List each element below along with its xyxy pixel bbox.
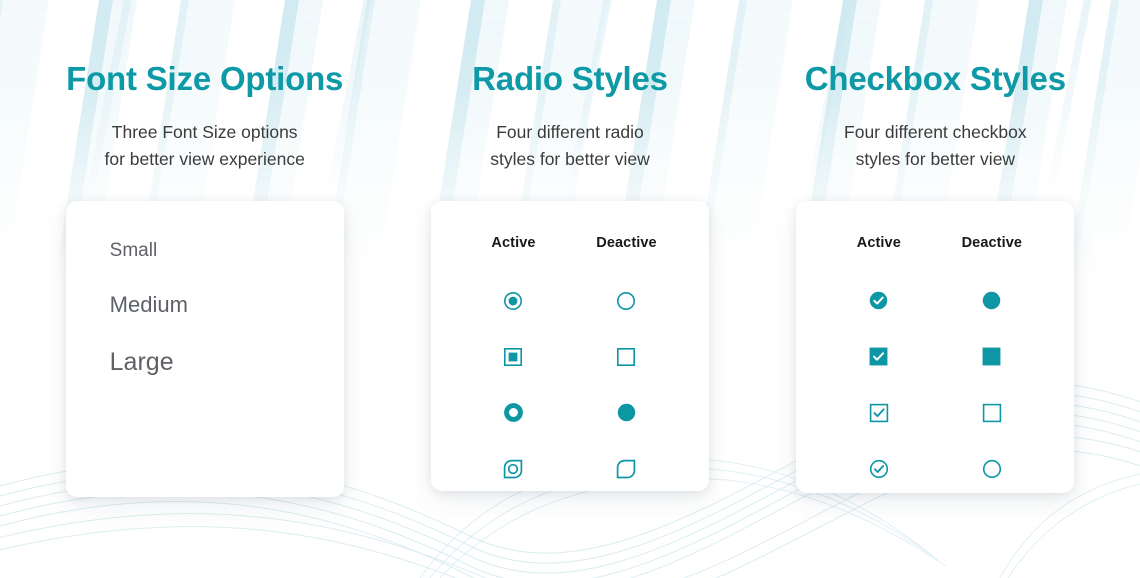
- table-row: [431, 385, 709, 441]
- radio-leaf-empty-icon[interactable]: [616, 459, 636, 479]
- check-square-outline-icon[interactable]: [869, 403, 889, 423]
- radio-styles-subtitle-line-2: styles for better view: [490, 149, 650, 169]
- table-row: [431, 329, 709, 385]
- table-row: [796, 273, 1074, 329]
- font-size-option-medium[interactable]: Medium: [110, 294, 344, 316]
- radio-styles-title: Radio Styles: [472, 62, 668, 97]
- square-outline-icon[interactable]: [982, 403, 1002, 423]
- font-size-card: Small Medium Large: [66, 201, 344, 497]
- column-checkbox-styles: Checkbox Styles Four different checkbox …: [753, 0, 1118, 578]
- checkbox-header-deactive: Deactive: [935, 235, 1048, 251]
- radio-deactive-cell-1[interactable]: [570, 286, 683, 316]
- checkbox-styles-subtitle-line-1: Four different checkbox: [844, 122, 1027, 142]
- checkbox-active-cell-3[interactable]: [822, 398, 935, 428]
- check-circle-outline-icon[interactable]: [869, 459, 889, 479]
- column-font-size: Font Size Options Three Font Size option…: [22, 0, 387, 578]
- radio-active-cell-3[interactable]: [457, 398, 570, 428]
- radio-deactive-cell-4[interactable]: [570, 454, 683, 484]
- font-size-subtitle: Three Font Size options for better view …: [104, 119, 304, 173]
- radio-styles-subtitle: Four different radio styles for better v…: [490, 119, 650, 173]
- checkbox-deactive-cell-4[interactable]: [935, 454, 1048, 484]
- font-size-subtitle-line-1: Three Font Size options: [112, 122, 298, 142]
- checkbox-styles-subtitle: Four different checkbox styles for bette…: [844, 119, 1027, 173]
- font-size-title: Font Size Options: [66, 62, 343, 97]
- font-size-option-large[interactable]: Large: [110, 350, 344, 375]
- radio-square-dot-icon[interactable]: [503, 347, 523, 367]
- radio-deactive-cell-3[interactable]: [570, 398, 683, 428]
- table-row: [796, 329, 1074, 385]
- radio-circle-dot-icon[interactable]: [503, 291, 523, 311]
- checkbox-deactive-cell-3[interactable]: [935, 398, 1048, 428]
- table-row: [431, 273, 709, 329]
- table-row: [796, 385, 1074, 441]
- checkbox-active-cell-1[interactable]: [822, 286, 935, 316]
- check-square-filled-icon[interactable]: [869, 347, 888, 366]
- font-size-subtitle-line-2: for better view experience: [104, 149, 304, 169]
- table-row: [796, 441, 1074, 497]
- radio-donut-icon[interactable]: [504, 403, 523, 422]
- radio-deactive-cell-2[interactable]: [570, 342, 683, 372]
- circle-filled-icon[interactable]: [982, 291, 1001, 310]
- checkbox-styles-subtitle-line-2: styles for better view: [856, 149, 1016, 169]
- radio-header-deactive: Deactive: [570, 235, 683, 251]
- radio-circle-filled-icon[interactable]: [617, 403, 636, 422]
- square-filled-icon[interactable]: [982, 347, 1001, 366]
- radio-active-cell-1[interactable]: [457, 286, 570, 316]
- circle-outline-icon[interactable]: [982, 459, 1002, 479]
- radio-styles-subtitle-line-1: Four different radio: [496, 122, 644, 142]
- radio-active-cell-2[interactable]: [457, 342, 570, 372]
- radio-table-header: Active Deactive: [431, 235, 709, 251]
- page-root: Font Size Options Three Font Size option…: [0, 0, 1140, 578]
- checkbox-deactive-cell-1[interactable]: [935, 286, 1048, 316]
- radio-header-active: Active: [457, 235, 570, 251]
- font-size-option-small[interactable]: Small: [110, 241, 344, 260]
- checkbox-table-header: Active Deactive: [796, 235, 1074, 251]
- radio-circle-empty-icon[interactable]: [616, 291, 636, 311]
- checkbox-active-cell-4[interactable]: [822, 454, 935, 484]
- checkbox-header-active: Active: [822, 235, 935, 251]
- radio-square-empty-icon[interactable]: [616, 347, 636, 367]
- check-circle-filled-icon[interactable]: [869, 291, 888, 310]
- column-radio-styles: Radio Styles Four different radio styles…: [387, 0, 752, 578]
- table-row: [431, 441, 709, 497]
- checkbox-styles-title: Checkbox Styles: [805, 62, 1066, 97]
- checkbox-styles-card: Active Deactive: [796, 201, 1074, 493]
- radio-active-cell-4[interactable]: [457, 454, 570, 484]
- checkbox-deactive-cell-2[interactable]: [935, 342, 1048, 372]
- radio-leaf-dot-icon[interactable]: [503, 459, 523, 479]
- radio-styles-card: Active Deactive: [431, 201, 709, 491]
- checkbox-active-cell-2[interactable]: [822, 342, 935, 372]
